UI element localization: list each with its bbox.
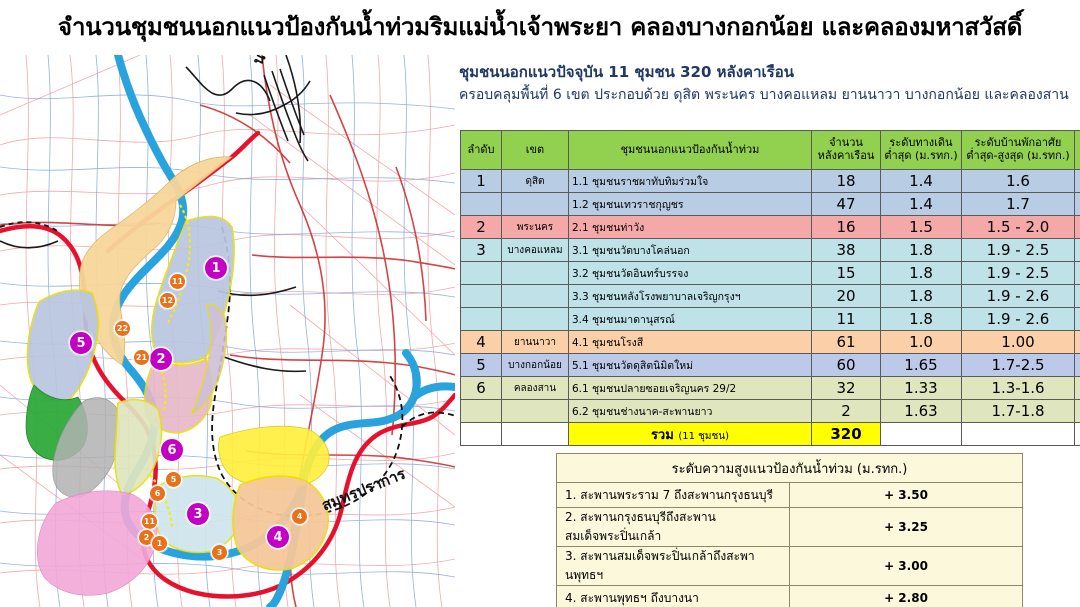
cell-walk: 1.0 <box>881 331 962 354</box>
total-houses: 320 <box>812 423 881 446</box>
summary-headline: ชุมชนนอกแนวปัจจุบัน 11 ชุมชน 320 หลังคาเ… <box>459 63 1079 82</box>
cell-walk: 1.33 <box>881 377 962 400</box>
col-header-houses: จำนวน หลังคาเรือน <box>812 131 881 170</box>
cell-walk: 1.65 <box>881 354 962 377</box>
levels-header-label: ระดับความสูงแนวป้องกันน้ำท่วม (ม.รทก.) <box>557 454 1023 483</box>
map-community-marker: 6 <box>149 485 166 502</box>
cell-home: 1.5 - 2.0 <box>962 216 1075 239</box>
cell-no <box>461 308 502 331</box>
col-header-district: เขต <box>502 131 569 170</box>
map-district-marker: 2 <box>149 347 173 371</box>
cell-home: 1.9 - 2.5 <box>962 239 1075 262</box>
cell-walk: 1.5 <box>881 216 962 239</box>
col-header-home-line2: ต่ำสุด-สูงสุด (ม.รทก.) <box>965 150 1071 163</box>
cell-district: คลองสาน <box>502 377 569 400</box>
cell-walk: 1.4 <box>881 193 962 216</box>
page-title-bar: จำนวนชุมชนนอกแนวป้องกันน้ำท่วมริมแม่น้ำเ… <box>0 0 1080 55</box>
cell-people: 5 <box>1075 400 1080 423</box>
cell-no: 4 <box>461 331 502 354</box>
summary-subline: ครอบคลุมพื้นที่ 6 เขต ประกอบด้วย ดุสิต พ… <box>459 87 1080 105</box>
table-row: 4ยานนาวา4.1 ชุมชนโรงสี611.01.00150 <box>461 331 1080 354</box>
cell-no <box>461 262 502 285</box>
cell-community: 3.2 ชุมชนวัดอินทร์บรรจง <box>569 262 812 285</box>
cell-home: 1.9 - 2.5 <box>962 262 1075 285</box>
map-community-marker: 1 <box>151 535 168 552</box>
cell-home: 1.3-1.6 <box>962 377 1075 400</box>
cell-district: บางคอแหลม <box>502 239 569 262</box>
cell-community: 5.1 ชุมชนวัดดุสิตนิมิตใหม่ <box>569 354 812 377</box>
cell-community: 4.1 ชุมชนโรงสี <box>569 331 812 354</box>
map-district-marker: 3 <box>186 502 210 526</box>
map-district-marker: 4 <box>266 525 290 549</box>
cell-home: 1.7-1.8 <box>962 400 1075 423</box>
total-people: 1,070 <box>1075 423 1080 446</box>
map-community-marker: 4 <box>291 508 308 525</box>
cell-houses: 47 <box>812 193 881 216</box>
cell-houses: 2 <box>812 400 881 423</box>
cell-houses: 38 <box>812 239 881 262</box>
communities-table-body: 1ดุสิต1.1 ชุมชนราชผาทับทิมร่วมใจ181.41.6… <box>461 170 1080 446</box>
total-cell-district <box>502 423 569 446</box>
table-row: 3บางคอแหลม3.1 ชุมชนวัดบางโคล่นอก381.81.9… <box>461 239 1080 262</box>
cell-people: 41 <box>1075 216 1080 239</box>
cell-people: 150 <box>1075 331 1080 354</box>
flood-wall-levels-table: ระดับความสูงแนวป้องกันน้ำท่วม (ม.รทก.) 1… <box>556 453 1023 607</box>
cell-community: 1.1 ชุมชนราชผาทับทิมร่วมใจ <box>569 170 812 193</box>
total-label: รวม (11 ชุมชน) <box>569 423 812 446</box>
levels-row: 2. สะพานกรุงธนบุรีถึงสะพานสมเด็จพระปิ่นเ… <box>557 508 1023 547</box>
map-community-marker: 21 <box>133 349 150 366</box>
bangkok-flood-map <box>0 55 455 607</box>
levels-row: 1. สะพานพระราม 7 ถึงสะพานกรุงธนบุรี+ 3.5… <box>557 483 1023 508</box>
table-row: 3.3 ชุมชนหลังโรงพยาบาลเจริญกรุงฯ201.81.9… <box>461 285 1080 308</box>
cell-district: พระนคร <box>502 216 569 239</box>
col-header-home-level: ระดับบ้านพักอาศัย ต่ำสุด-สูงสุด (ม.รทก.) <box>962 131 1075 170</box>
cell-houses: 61 <box>812 331 881 354</box>
map-community-marker: 11 <box>141 513 158 530</box>
levels-row-value: + 3.25 <box>790 508 1023 547</box>
map-district-marker: 1 <box>204 256 228 280</box>
levels-row: 4. สะพานพุทธฯ ถึงบางนา+ 2.80 <box>557 586 1023 607</box>
cell-no: 3 <box>461 239 502 262</box>
levels-row-value: + 2.80 <box>790 586 1023 607</box>
levels-row-value: + 3.50 <box>790 483 1023 508</box>
cell-people: 63 <box>1075 285 1080 308</box>
cell-district <box>502 400 569 423</box>
cell-people: 125 <box>1075 193 1080 216</box>
cell-home: 1.00 <box>962 331 1075 354</box>
cell-people: 172 <box>1075 239 1080 262</box>
cell-houses: 18 <box>812 170 881 193</box>
communities-table-head: ลำดับ เขต ชุมชนนอกแนวป้องกันน้ำท่วม จำนว… <box>461 131 1080 170</box>
cell-home: 1.9 - 2.6 <box>962 308 1075 331</box>
col-header-no: ลำดับ <box>461 131 502 170</box>
cell-houses: 20 <box>812 285 881 308</box>
cell-houses: 16 <box>812 216 881 239</box>
cell-no: 1 <box>461 170 502 193</box>
cell-houses: 15 <box>812 262 881 285</box>
cell-home: 1.7-2.5 <box>962 354 1075 377</box>
cell-people: 200 <box>1075 354 1080 377</box>
cell-people: 44 <box>1075 170 1080 193</box>
cell-people: 141 <box>1075 377 1080 400</box>
map-community-marker: 12 <box>159 292 176 309</box>
cell-community: 3.4 ชุมชนมาดานุสรณ์ <box>569 308 812 331</box>
cell-walk: 1.8 <box>881 285 962 308</box>
levels-header-row: ระดับความสูงแนวป้องกันน้ำท่วม (ม.รทก.) <box>557 454 1023 483</box>
communities-table: ลำดับ เขต ชุมชนนอกแนวป้องกันน้ำท่วม จำนว… <box>460 130 1080 446</box>
cell-district <box>502 285 569 308</box>
map-community-marker: 11 <box>169 273 186 290</box>
levels-row-value: + 3.00 <box>790 547 1023 586</box>
total-cell-no <box>461 423 502 446</box>
table-row: 2พระนคร2.1 ชุมชนท่าวัง161.51.5 - 2.041 <box>461 216 1080 239</box>
total-home <box>962 423 1075 446</box>
table-row: 6คลองสาน6.1 ชุมชนปลายซอยเจริญนคร 29/2321… <box>461 377 1080 400</box>
col-header-community: ชุมชนนอกแนวป้องกันน้ำท่วม <box>569 131 812 170</box>
cell-district <box>502 193 569 216</box>
cell-home: 1.7 <box>962 193 1075 216</box>
cell-community: 2.1 ชุมชนท่าวัง <box>569 216 812 239</box>
map-panel: นนทบุรี สมุทรปราการ ณ เดือนตุลาคม 2568 1… <box>0 55 455 607</box>
cell-no <box>461 400 502 423</box>
map-community-marker: 3 <box>211 544 228 561</box>
table-row: 3.2 ชุมชนวัดอินทร์บรรจง151.81.9 - 2.558 <box>461 262 1080 285</box>
table-row: 3.4 ชุมชนมาดานุสรณ์111.81.9 - 2.671 <box>461 308 1080 331</box>
cell-walk: 1.4 <box>881 170 962 193</box>
cell-home: 1.9 - 2.6 <box>962 285 1075 308</box>
table-row: 1.2 ชุมชนเทวราชกุญชร471.41.7125 <box>461 193 1080 216</box>
table-header-row: ลำดับ เขต ชุมชนนอกแนวป้องกันน้ำท่วม จำนว… <box>461 131 1080 170</box>
cell-district <box>502 262 569 285</box>
map-district-marker: 5 <box>69 331 93 355</box>
cell-no: 2 <box>461 216 502 239</box>
cell-community: 1.2 ชุมชนเทวราชกุญชร <box>569 193 812 216</box>
cell-walk: 1.8 <box>881 308 962 331</box>
cell-community: 3.1 ชุมชนวัดบางโคล่นอก <box>569 239 812 262</box>
total-label-text: รวม <box>651 428 674 443</box>
cell-no: 6 <box>461 377 502 400</box>
cell-no <box>461 193 502 216</box>
cell-home: 1.6 <box>962 170 1075 193</box>
col-header-walk-level: ระดับทางเดิน ต่ำสุด (ม.รทก.) <box>881 131 962 170</box>
cell-no <box>461 285 502 308</box>
cell-community: 3.3 ชุมชนหลังโรงพยาบาลเจริญกรุงฯ <box>569 285 812 308</box>
map-district-marker: 6 <box>160 438 184 462</box>
total-label-note: (11 ชุมชน) <box>678 431 729 442</box>
cell-houses: 60 <box>812 354 881 377</box>
cell-people: 71 <box>1075 308 1080 331</box>
cell-district <box>502 308 569 331</box>
col-header-walk-line2: ต่ำสุด (ม.รทก.) <box>884 150 958 163</box>
levels-row-name: 4. สะพานพุทธฯ ถึงบางนา <box>557 586 790 607</box>
cell-district: บางกอกน้อย <box>502 354 569 377</box>
levels-row: 3. สะพานสมเด็จพระปิ่นเกล้าถึงสะพานพุทธฯ+… <box>557 547 1023 586</box>
cell-no: 5 <box>461 354 502 377</box>
table-row: 5บางกอกน้อย5.1 ชุมชนวัดดุสิตนิมิตใหม่601… <box>461 354 1080 377</box>
cell-walk: 1.8 <box>881 239 962 262</box>
table-row: 6.2 ชุมชนช่างนาค-สะพานยาว21.631.7-1.85 <box>461 400 1080 423</box>
levels-row-name: 1. สะพานพระราม 7 ถึงสะพานกรุงธนบุรี <box>557 483 790 508</box>
total-walk <box>881 423 962 446</box>
cell-community: 6.2 ชุมชนช่างนาค-สะพานยาว <box>569 400 812 423</box>
levels-row-name: 2. สะพานกรุงธนบุรีถึงสะพานสมเด็จพระปิ่นเ… <box>557 508 790 547</box>
cell-people: 58 <box>1075 262 1080 285</box>
col-header-houses-line2: หลังคาเรือน <box>815 150 877 163</box>
cell-district: ดุสิต <box>502 170 569 193</box>
flood-wall-levels-body: ระดับความสูงแนวป้องกันน้ำท่วม (ม.รทก.) 1… <box>557 454 1023 607</box>
levels-row-name: 3. สะพานสมเด็จพระปิ่นเกล้าถึงสะพานพุทธฯ <box>557 547 790 586</box>
cell-district: ยานนาวา <box>502 331 569 354</box>
table-row: 1ดุสิต1.1 ชุมชนราชผาทับทิมร่วมใจ181.41.6… <box>461 170 1080 193</box>
table-total-row: รวม (11 ชุมชน)3201,070 <box>461 423 1080 446</box>
cell-community: 6.1 ชุมชนปลายซอยเจริญนคร 29/2 <box>569 377 812 400</box>
map-community-marker: 5 <box>165 471 182 488</box>
cell-walk: 1.8 <box>881 262 962 285</box>
page-title: จำนวนชุมชนนอกแนวป้องกันน้ำท่วมริมแม่น้ำเ… <box>58 14 1022 40</box>
infographic-page: จำนวนชุมชนนอกแนวป้องกันน้ำท่วมริมแม่น้ำเ… <box>0 0 1080 607</box>
cell-walk: 1.63 <box>881 400 962 423</box>
cell-houses: 32 <box>812 377 881 400</box>
data-panel: ชุมชนนอกแนวปัจจุบัน 11 ชุมชน 320 หลังคาเ… <box>455 55 1080 607</box>
col-header-people: จำนวน (คน) <box>1075 131 1080 170</box>
cell-houses: 11 <box>812 308 881 331</box>
map-community-marker: 22 <box>114 320 131 337</box>
